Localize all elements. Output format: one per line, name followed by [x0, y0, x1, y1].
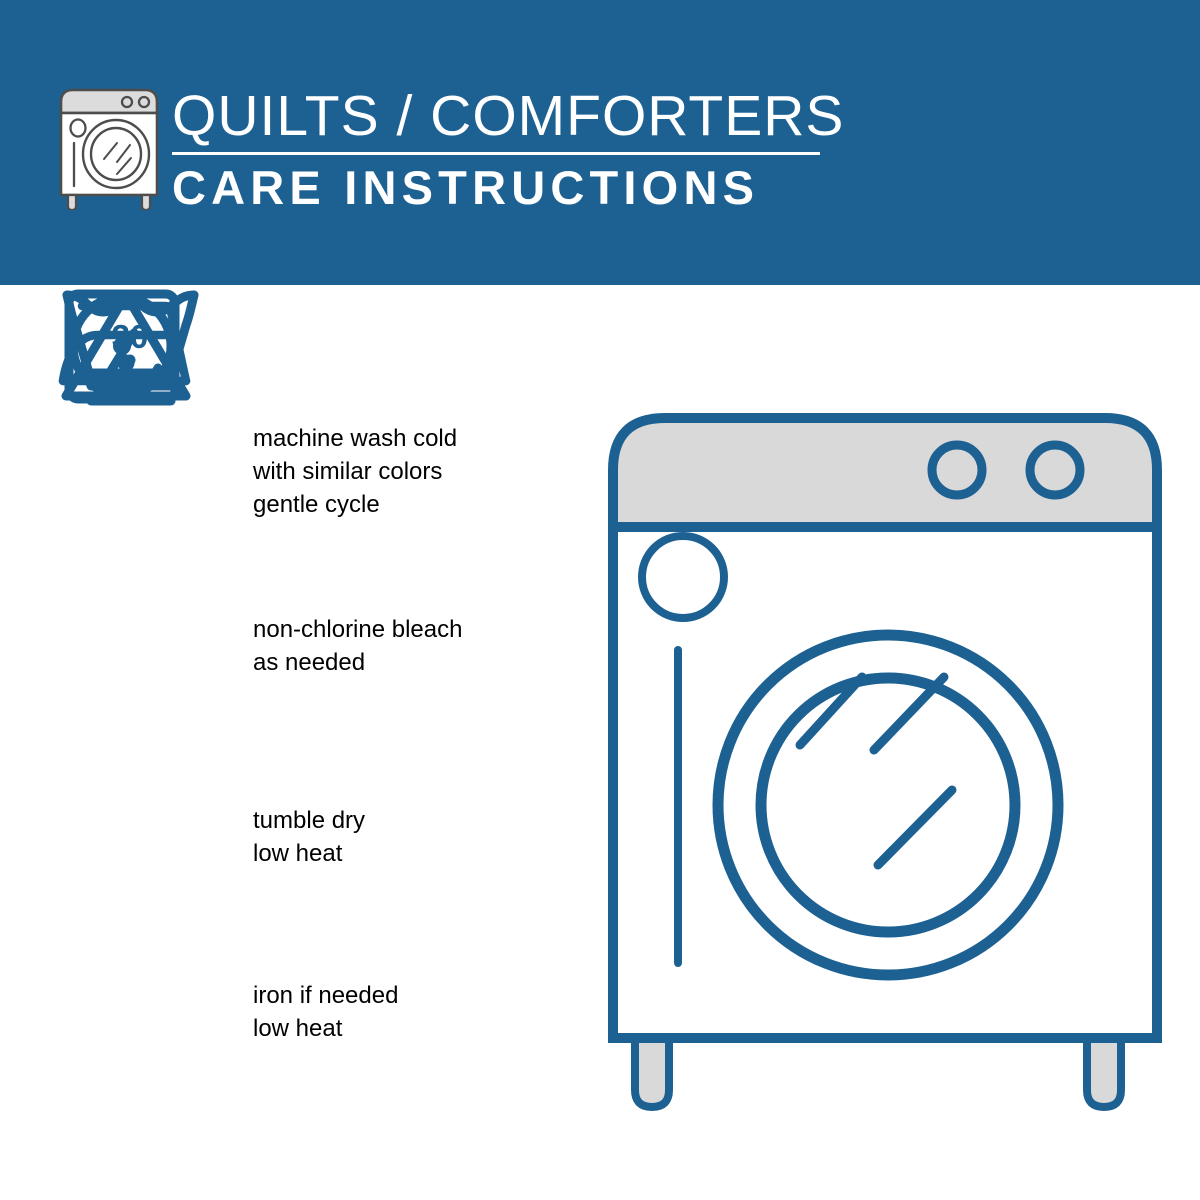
care-text-bleach: non-chlorine bleach as needed — [253, 613, 462, 679]
care-instructions-infographic: QUILTS / COMFORTERS CARE INSTRUCTIONS 30 — [0, 0, 1200, 1200]
washing-machine-illustration — [600, 405, 1170, 1115]
header-banner: QUILTS / COMFORTERS CARE INSTRUCTIONS — [0, 0, 1200, 285]
title-divider — [172, 152, 820, 155]
care-text-tumble-dry: tumble dry low heat — [253, 804, 365, 870]
iron-low-heat-icon — [58, 285, 203, 410]
care-text-iron: iron if needed low heat — [253, 979, 398, 1045]
page-subtitle: CARE INSTRUCTIONS — [172, 162, 820, 214]
leg-right — [1087, 1037, 1121, 1107]
washing-machine-logo-icon — [55, 82, 163, 210]
page-title: QUILTS / COMFORTERS — [172, 86, 820, 146]
leg-left — [635, 1037, 669, 1107]
care-text-machine-wash: machine wash cold with similar colors ge… — [253, 422, 457, 521]
header-title-group: QUILTS / COMFORTERS CARE INSTRUCTIONS — [172, 86, 820, 214]
care-symbol-list: 30 machine wash cold with similar colors… — [0, 285, 560, 1200]
